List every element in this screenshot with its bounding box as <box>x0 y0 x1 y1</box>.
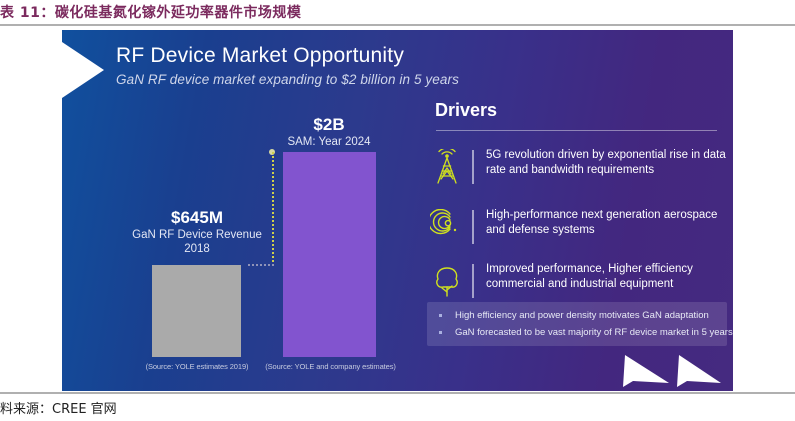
growth-connector-line <box>272 152 274 266</box>
caption-divider <box>0 24 795 26</box>
bar-2024 <box>283 152 376 357</box>
cell-tower-icon <box>430 149 464 185</box>
bullet-item: High efficiency and power density motiva… <box>439 307 721 325</box>
bullet-label: High efficiency and power density motiva… <box>455 307 709 325</box>
driver-divider <box>472 264 474 298</box>
bar-caption-2018: GaN RF Device Revenue 2018 <box>132 228 262 256</box>
summary-bullet-box: High efficiency and power density motiva… <box>427 302 727 346</box>
radar-dish-icon <box>430 209 464 245</box>
bar-source-2018: (Source: YOLE estimates 2019) <box>122 362 272 371</box>
growth-connector-base <box>248 264 276 266</box>
bar-2018 <box>152 265 241 357</box>
bar-value-2024: $2B <box>276 115 382 135</box>
driver-item-aerospace: High-performance next generation aerospa… <box>430 208 730 252</box>
driver-divider <box>472 210 474 244</box>
tree-icon <box>430 263 464 299</box>
bar-caption-2024: SAM: Year 2024 <box>266 135 392 149</box>
figure-caption: 表 11：碳化硅基氮化镓外延功率器件市场规模 <box>0 2 795 23</box>
drivers-panel: Drivers 5G revolution driven by exponent… <box>422 30 733 391</box>
driver-text-aerospace: High-performance next generation aerospa… <box>486 208 730 238</box>
bullet-item: GaN forecasted to be vast majority of RF… <box>439 324 721 342</box>
source-divider <box>0 392 795 394</box>
bar-value-2018: $645M <box>142 208 252 228</box>
driver-item-5g: 5G revolution driven by exponential rise… <box>430 148 730 192</box>
bullet-dot-icon <box>439 331 442 334</box>
source-line: 料来源：CREE 官网 <box>0 398 795 418</box>
bullet-dot-icon <box>439 314 442 317</box>
bar-source-2024: (Source: YOLE and company estimates) <box>258 362 403 371</box>
drivers-heading: Drivers <box>435 100 497 121</box>
slide-canvas: RF Device Market Opportunity GaN RF devi… <box>62 30 733 391</box>
driver-text-industrial: Improved performance, Higher efficiency … <box>486 262 730 292</box>
bullet-label: GaN forecasted to be vast majority of RF… <box>455 324 733 342</box>
driver-text-5g: 5G revolution driven by exponential rise… <box>486 148 730 178</box>
drivers-divider <box>436 130 717 131</box>
driver-divider <box>472 150 474 184</box>
bar-chart: $645M GaN RF Device Revenue 2018 (Source… <box>62 30 422 391</box>
driver-item-industrial: Improved performance, Higher efficiency … <box>430 262 730 306</box>
